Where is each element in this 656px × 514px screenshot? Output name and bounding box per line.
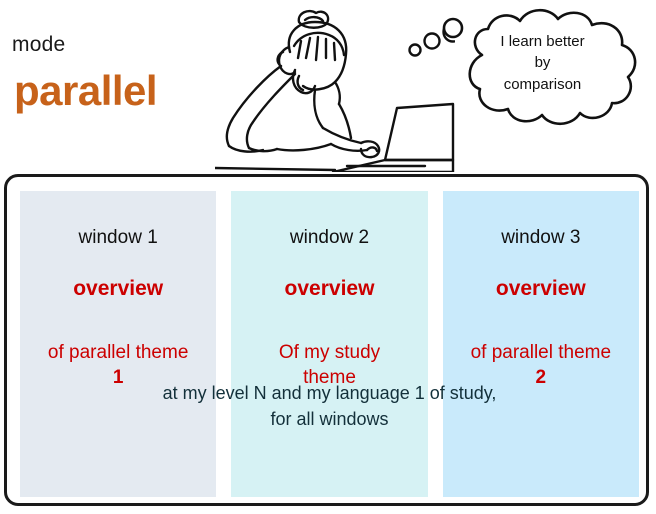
window-column-3[interactable]: window 3 overview of parallel theme 2 <box>443 191 639 497</box>
window-3-subtitle-text: of parallel theme <box>471 342 611 363</box>
mode-label: mode <box>12 33 65 57</box>
thought-bubble: I learn better by comparison <box>440 3 656 135</box>
mode-value: parallel <box>14 70 157 112</box>
window-2-overview: overview <box>231 277 427 301</box>
header: mode parallel <box>0 0 656 172</box>
window-1-number: 1 <box>20 366 216 390</box>
window-3-overview: overview <box>443 277 639 301</box>
window-1-subtitle-text: of parallel theme <box>48 342 188 363</box>
person-studying-at-laptop-illustration <box>215 0 455 172</box>
window-2-subtitle-text: Of my study theme <box>279 342 380 387</box>
windows-columns: window 1 overview of parallel theme 1 wi… <box>20 191 639 497</box>
window-3-number: 2 <box>443 366 639 390</box>
window-1-overview: overview <box>20 277 216 301</box>
thought-bubble-text: I learn better by comparison <box>440 31 645 95</box>
window-3-subtitle: of parallel theme 2 <box>443 317 639 414</box>
window-2-title: window 2 <box>231 227 427 249</box>
window-1-subtitle: of parallel theme 1 <box>20 317 216 414</box>
window-3-title: window 3 <box>443 227 639 249</box>
window-column-2[interactable]: window 2 overview Of my study theme <box>231 191 427 497</box>
window-1-title: window 1 <box>20 227 216 249</box>
windows-panel: window 1 overview of parallel theme 1 wi… <box>4 174 649 506</box>
window-2-subtitle: Of my study theme <box>231 317 427 414</box>
window-column-1[interactable]: window 1 overview of parallel theme 1 <box>20 191 216 497</box>
